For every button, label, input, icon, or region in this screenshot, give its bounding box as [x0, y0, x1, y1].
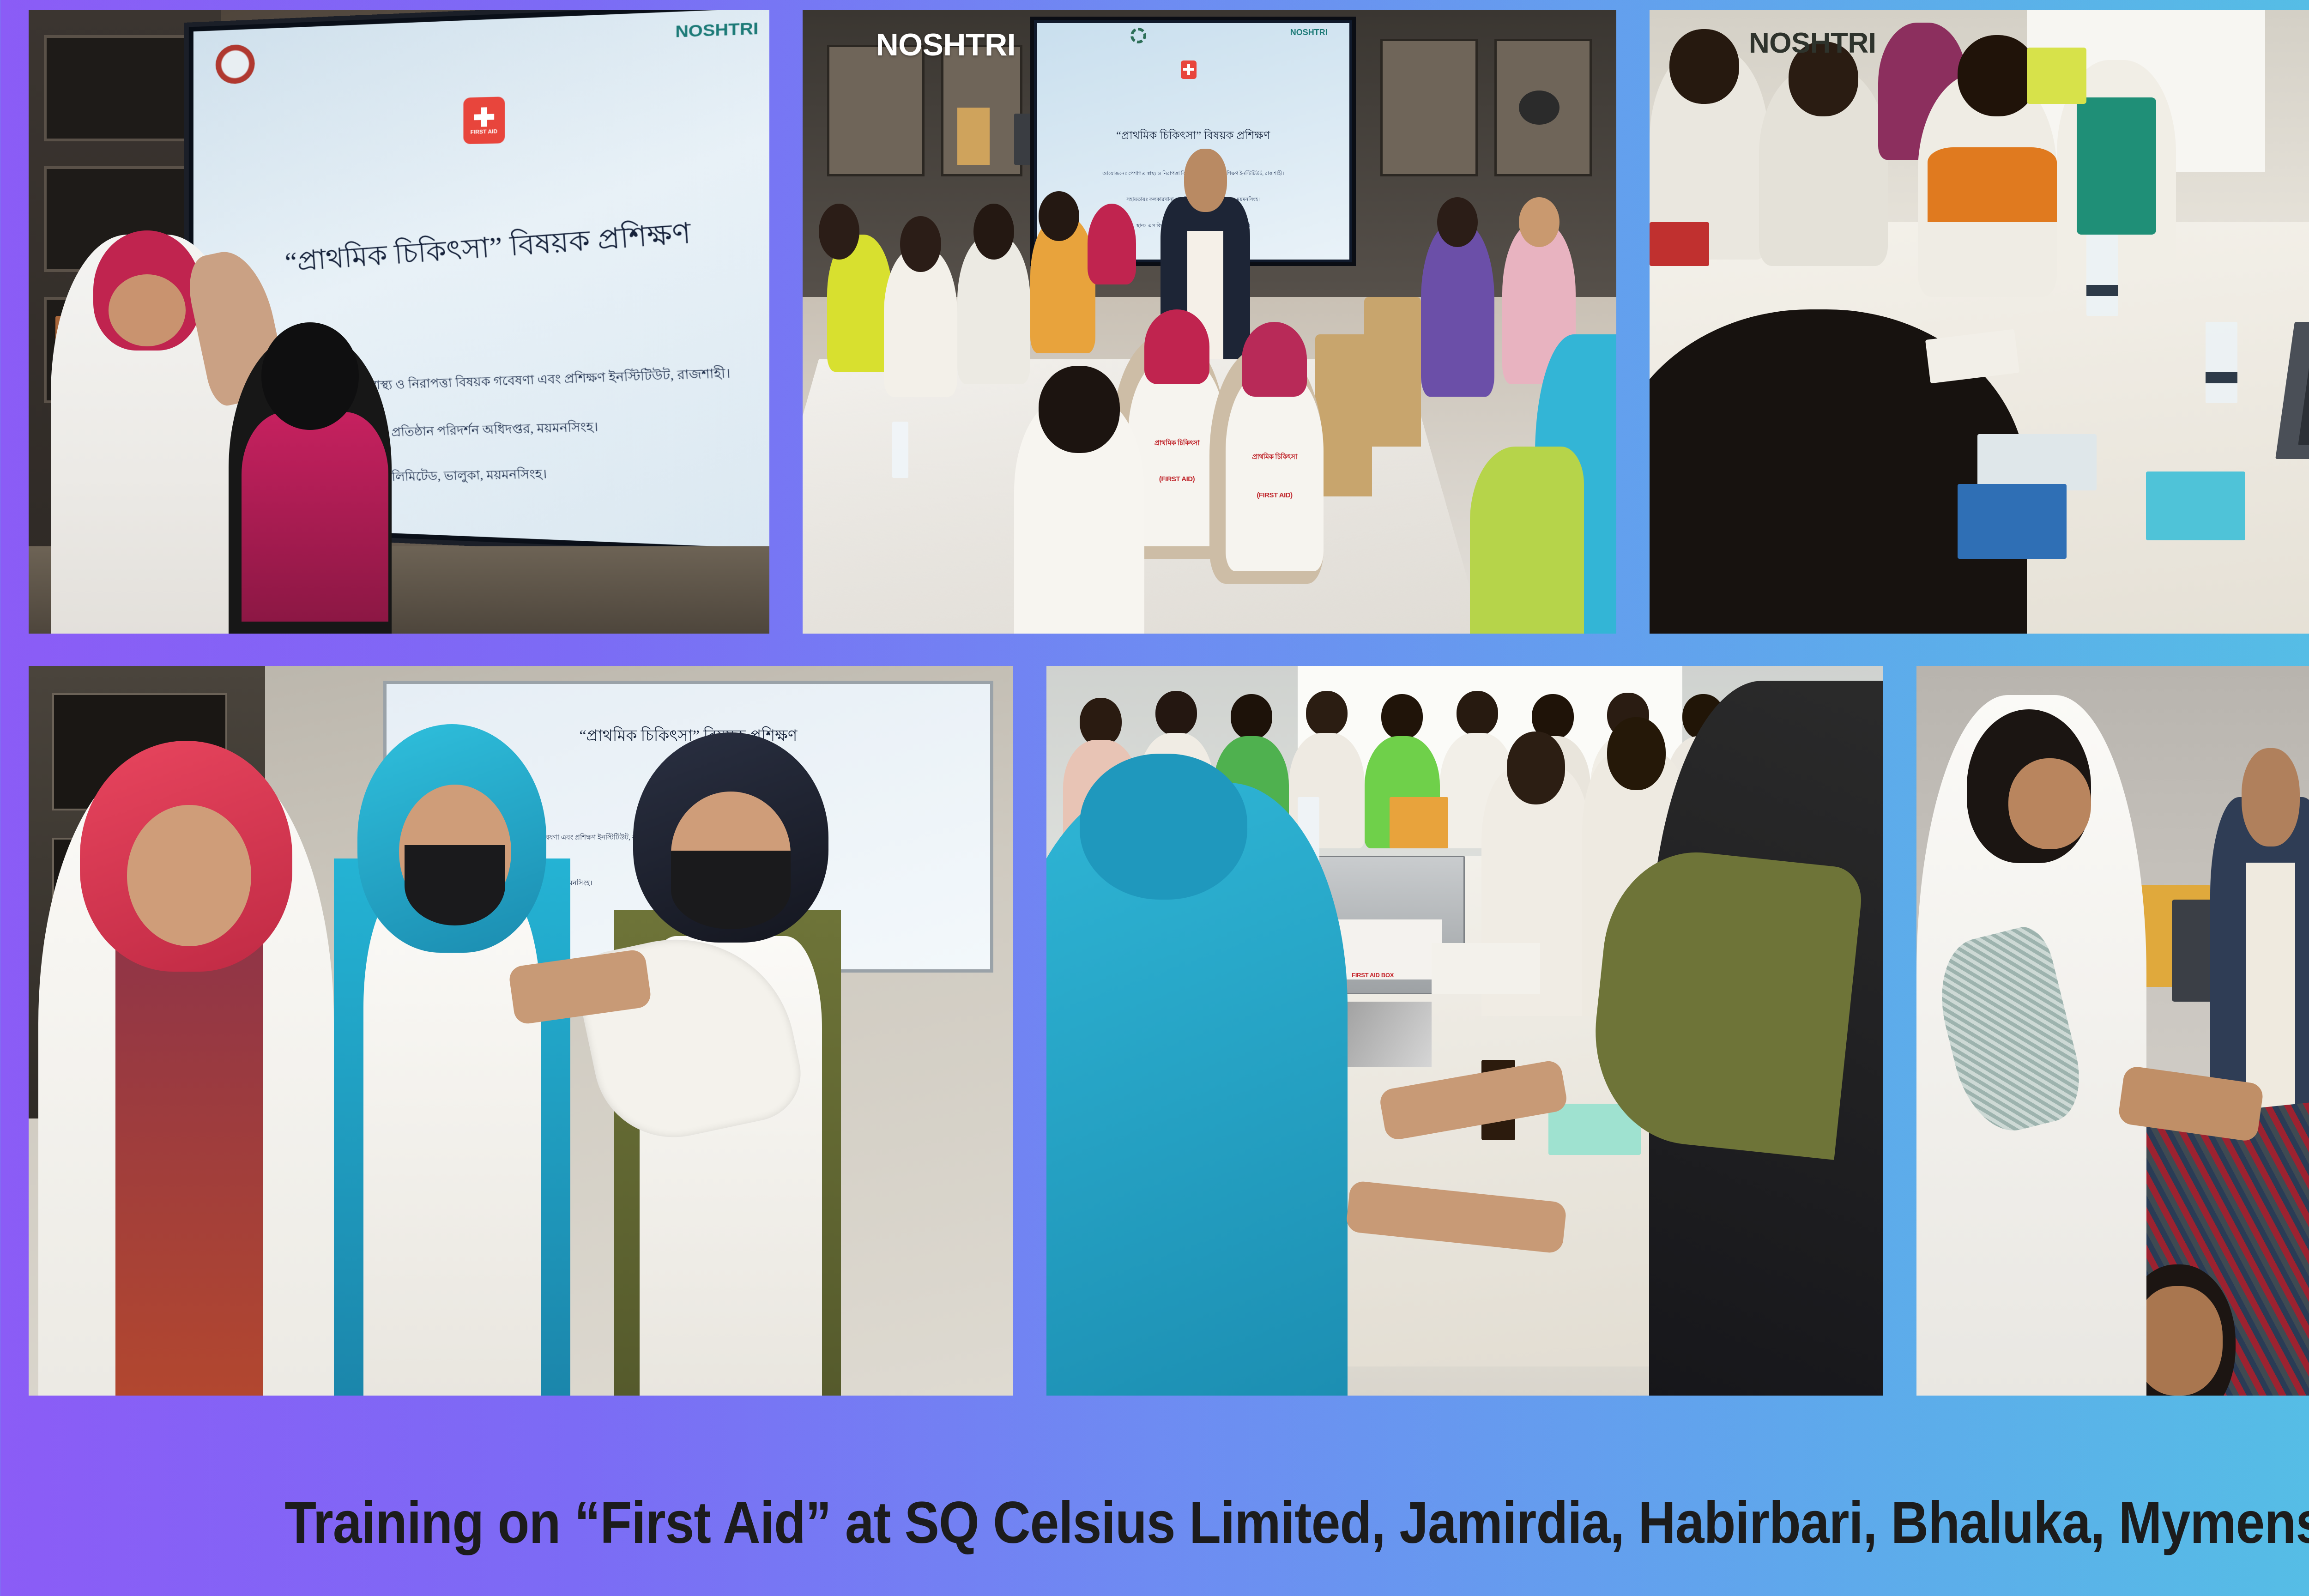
participant-head [1958, 35, 2037, 116]
woman-with-sling [570, 739, 885, 1396]
chair [1315, 334, 1372, 496]
first-aid-vest: প্রাথমিক চিকিৎসা (FIRST AID) [1226, 372, 1323, 571]
institute-seal-icon [215, 44, 254, 85]
trainee-head [1080, 754, 1247, 900]
collage-row-bottom: “প্রাথমিক চিকিৎসা” বিষয়ক প্রশিক্ষণ আয়ো… [29, 666, 2309, 1396]
photo-cell-2[interactable]: NOSHTRI “প্রাথমিক চিকিৎসা” বিষয়ক প্রশিক… [803, 10, 1616, 634]
first-aid-box-label: FIRST AID BOX [1352, 972, 1394, 979]
caption-text: Training on “First Aid” at SQ Celsius Li… [284, 1493, 2309, 1553]
photo-5-image: FIRST AID BOX [1046, 666, 1883, 1396]
trainer-sleeve [1584, 843, 1864, 1160]
water-bottle [2086, 235, 2118, 316]
observer [1421, 222, 1494, 397]
tissue-box [1390, 797, 1448, 848]
vest-label-bn: প্রাথমিক চিকিৎসা [1226, 452, 1323, 463]
caption-bar: Training on “First Aid” at SQ Celsius Li… [0, 1450, 2309, 1596]
photo-cell-6[interactable] [1916, 666, 2309, 1396]
participant-head [1039, 366, 1120, 453]
participant-figure [229, 334, 392, 634]
participant-head [1669, 29, 1739, 104]
vest-label-en: (FIRST AID) [1226, 491, 1323, 499]
participant-head [973, 204, 1014, 260]
photo-collage: NOSHTRI FIRST AID “প্রাথমিক চিকিৎসা” বিষ… [0, 0, 2309, 1596]
paper-sheet [1432, 943, 1541, 994]
first-aid-badge-label: FIRST AID [471, 129, 497, 135]
observer-head [1519, 197, 1559, 247]
collage-row-top: NOSHTRI FIRST AID “প্রাথমিক চিকিৎসা” বিষ… [29, 10, 2309, 634]
participant-head [1039, 191, 1079, 241]
participant-head [1088, 204, 1136, 285]
participant-head [1144, 309, 1209, 384]
water-bottle [2206, 322, 2237, 403]
noshtri-logo-slide: NOSHTRI [1290, 28, 1328, 37]
noshtri-watermark: NOSHTRI [876, 29, 1016, 60]
observer [1470, 447, 1584, 634]
participant-head [1607, 717, 1666, 790]
gear-seal-icon [1130, 28, 1146, 43]
woman-teal-hijab [304, 724, 600, 1396]
slide-title: “প্রাথমিক চিকিৎসা” বিষয়ক প্রশিক্ষণ [248, 208, 733, 289]
photo-2-image: NOSHTRI “প্রাথমিক চিকিৎসা” বিষয়ক প্রশিক… [803, 10, 1616, 634]
face-mask [671, 851, 791, 930]
photo-3-image: NOSHTRI [1650, 10, 2309, 634]
woman-red-hijab [38, 754, 334, 1396]
noshtri-logo: NOSHTRI [675, 19, 758, 42]
photo-cell-4[interactable]: “প্রাথমিক চিকিৎসা” বিষয়ক প্রশিক্ষণ আয়ো… [29, 666, 1013, 1396]
cpr-demonstrator [1916, 695, 2146, 1396]
photo-cell-1[interactable]: NOSHTRI FIRST AID “প্রাথমিক চিকিৎসা” বিষ… [29, 10, 769, 634]
tv-slide-title: “প্রাথমিক চিকিৎসা” বিষয়ক প্রশিক্ষণ [1062, 127, 1325, 145]
supply-pack [1958, 484, 2067, 559]
participant-head [900, 216, 941, 272]
chair [1364, 297, 1421, 447]
observer-head [1437, 197, 1478, 247]
tissue-box [1650, 222, 1709, 266]
first-aid-badge-icon-2 [1181, 60, 1197, 79]
noshtri-watermark: NOSHTRI [1749, 29, 1876, 58]
photo-6-image [1916, 666, 2309, 1396]
participant-head [1507, 731, 1566, 804]
gauze-pack [1977, 434, 2097, 490]
photo-cell-5[interactable]: FIRST AID BOX [1046, 666, 1883, 1396]
participant-head [1242, 322, 1307, 397]
photo-4-image: “প্রাথমিক চিকিৎসা” বিষয়ক প্রশিক্ষণ আয়ো… [29, 666, 1013, 1396]
trainer-figure [51, 235, 243, 634]
supply-pack [2146, 472, 2245, 540]
photo-cell-3[interactable]: NOSHTRI [1650, 10, 2309, 634]
participant-head [819, 204, 859, 260]
face-mask [405, 845, 505, 925]
photo-1-image: NOSHTRI FIRST AID “প্রাথমিক চিকিৎসা” বিষ… [29, 10, 769, 634]
first-aid-badge-icon: FIRST AID [463, 97, 505, 144]
